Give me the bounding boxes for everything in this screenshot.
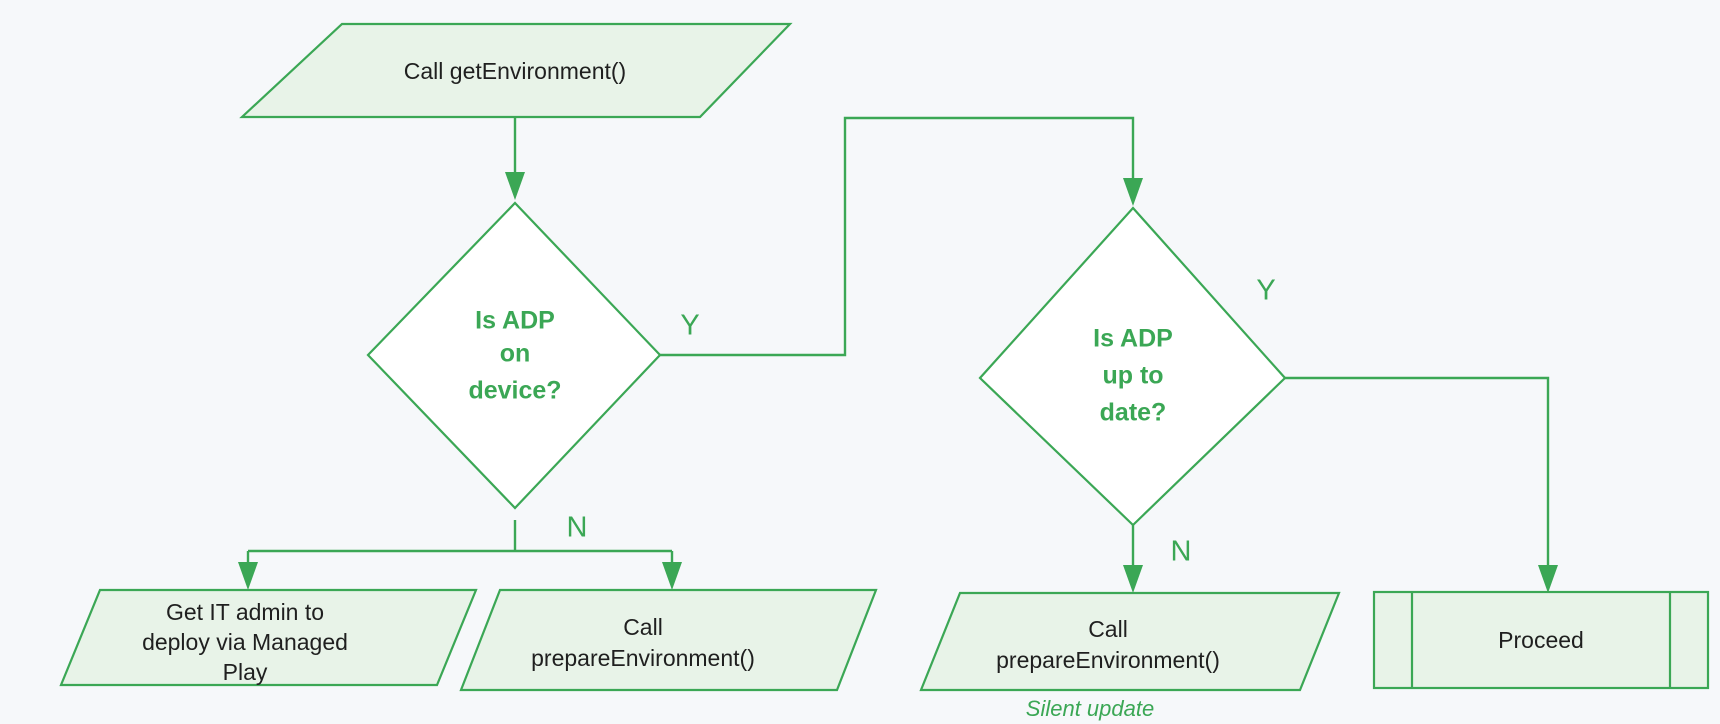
node-is-adp-on-device-line-1: on (500, 340, 531, 368)
node-call-prepare-environment-left[interactable]: Call prepareEnvironment() (461, 590, 876, 690)
node-prepare-env-left-line-0: Call (623, 614, 663, 640)
arrow-head-icon (505, 172, 525, 200)
node-is-adp-up-to-date-line-1: up to (1102, 362, 1163, 390)
arrow-head-icon (238, 562, 258, 590)
node-call-get-environment[interactable]: Call getEnvironment() (242, 24, 790, 117)
edge-up-to-date-yes-to-proceed (1285, 378, 1558, 593)
arrow-head-icon (1123, 565, 1143, 593)
arrow-head-icon (1538, 565, 1558, 593)
node-is-adp-on-device[interactable]: Is ADP on device? (368, 203, 660, 508)
node-call-get-environment-line-0: Call getEnvironment() (404, 58, 626, 84)
node-get-it-admin-deploy[interactable]: Get IT admin to deploy via Managed Play (61, 590, 476, 685)
branch-label-up-to-date-yes: Y (1256, 275, 1275, 307)
branch-label-up-to-date-no: N (1171, 536, 1192, 568)
arrow-head-icon (662, 562, 682, 590)
node-prepare-env-left-line-1: prepareEnvironment() (531, 645, 755, 671)
node-get-it-admin-line-1: deploy via Managed (142, 629, 348, 655)
edge-start-to-on-device (505, 117, 525, 200)
node-get-it-admin-line-2: Play (223, 659, 268, 685)
node-proceed-line-0: Proceed (1498, 627, 1584, 653)
branch-label-on-device-no: N (567, 512, 588, 544)
node-prepare-env-right-line-1: prepareEnvironment() (996, 647, 1220, 673)
node-prepare-env-right-line-0: Call (1088, 616, 1128, 642)
edge-up-to-date-no-to-prepare (1123, 525, 1143, 593)
flowchart-diagram: Call getEnvironment() Is ADP on device? … (0, 0, 1720, 724)
branch-label-on-device-yes: Y (680, 310, 699, 342)
node-is-adp-up-to-date-line-0: Is ADP (1093, 325, 1173, 353)
node-get-it-admin-line-0: Get IT admin to (166, 599, 324, 625)
flowchart-canvas: Call getEnvironment() Is ADP on device? … (0, 0, 1720, 724)
caption-silent-update: Silent update (1026, 696, 1154, 721)
node-is-adp-up-to-date-line-2: date? (1100, 399, 1167, 427)
node-is-adp-on-device-line-2: device? (468, 377, 561, 405)
edge-on-device-no-split (238, 520, 682, 590)
node-proceed[interactable]: Proceed (1374, 592, 1708, 688)
arrow-head-icon (1123, 178, 1143, 206)
node-call-prepare-environment-right[interactable]: Call prepareEnvironment() (921, 593, 1339, 690)
node-is-adp-up-to-date[interactable]: Is ADP up to date? (980, 208, 1285, 525)
node-is-adp-on-device-line-0: Is ADP (475, 307, 555, 335)
